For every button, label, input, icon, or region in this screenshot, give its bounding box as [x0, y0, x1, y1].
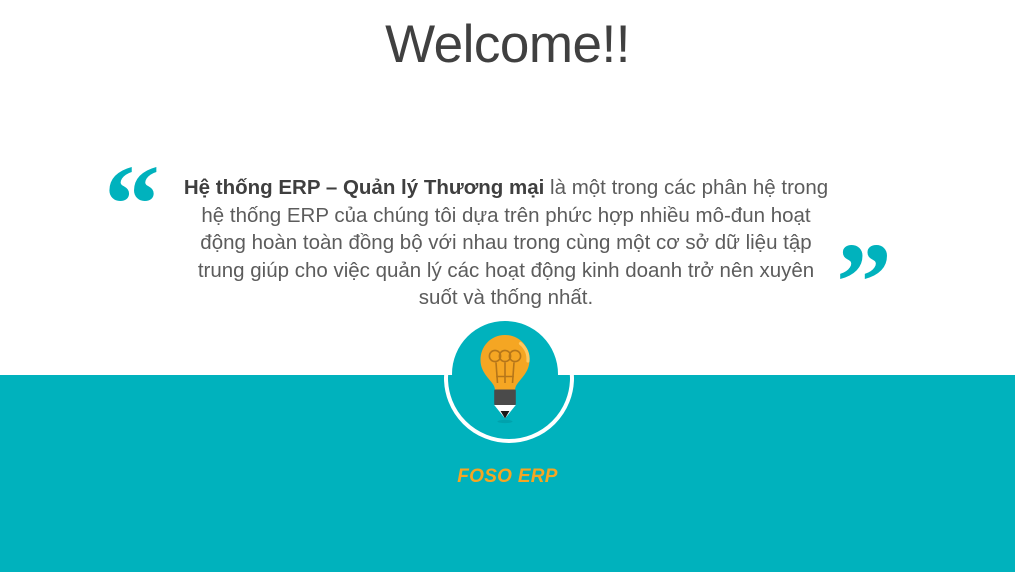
- page-title: Welcome!!: [0, 14, 1015, 76]
- quote-block: “ Hệ thống ERP – Quản lý Thương mại là m…: [0, 145, 1015, 320]
- brand-badge: [444, 313, 574, 443]
- quote-lead-bold: Hệ thống ERP – Quản lý Thương mại: [184, 176, 545, 199]
- quote-open-icon: “: [104, 149, 160, 261]
- lightbulb-pencil-icon: [452, 321, 558, 427]
- brand-label: FOSO ERP: [0, 464, 1015, 490]
- quote-text: Hệ thống ERP – Quản lý Thương mại là một…: [176, 174, 836, 312]
- welcome-slide: Welcome!! “ Hệ thống ERP – Quản lý Thươn…: [0, 0, 1015, 572]
- quote-close-icon: ”: [836, 227, 892, 339]
